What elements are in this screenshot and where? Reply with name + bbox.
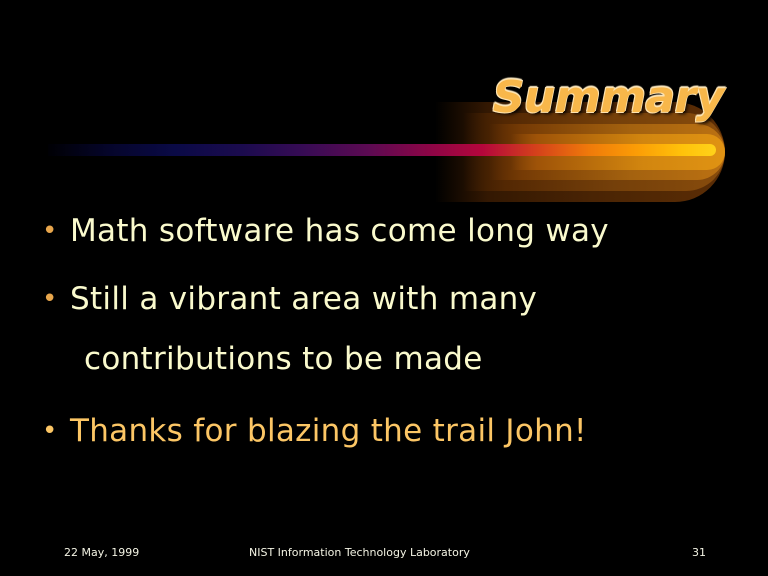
comet-streak-bar — [48, 144, 716, 156]
bullet-text-2-continuation: contributions to be made — [70, 336, 742, 382]
slide-body: • Math software has come long way • Stil… — [42, 208, 742, 468]
bullet-item-1: • Math software has come long way — [42, 208, 742, 254]
bullet-marker-icon: • — [42, 276, 70, 322]
comet-glow-mid-outer — [463, 113, 725, 191]
comet-glow-mid-inner — [489, 124, 725, 180]
bullet-text-1: Math software has come long way — [70, 208, 742, 254]
footer-page-number: 31 — [692, 546, 706, 559]
bullet-marker-icon: • — [42, 408, 70, 454]
presentation-slide: Summary • Math software has come long wa… — [0, 0, 768, 576]
bullet-text-3: Thanks for blazing the trail John! — [70, 408, 742, 454]
bullet-marker-icon: • — [42, 208, 70, 254]
bullet-text-2: Still a vibrant area with many — [70, 276, 742, 322]
bullet-item-3: • Thanks for blazing the trail John! — [42, 408, 742, 454]
comet-glow-inner — [511, 134, 725, 170]
slide-footer: 22 May, 1999 NIST Information Technology… — [0, 544, 768, 566]
footer-organization: NIST Information Technology Laboratory — [249, 546, 470, 559]
bullet-item-2: • Still a vibrant area with many — [42, 276, 742, 322]
slide-title: Summary — [493, 72, 724, 123]
footer-date: 22 May, 1999 — [64, 546, 139, 559]
